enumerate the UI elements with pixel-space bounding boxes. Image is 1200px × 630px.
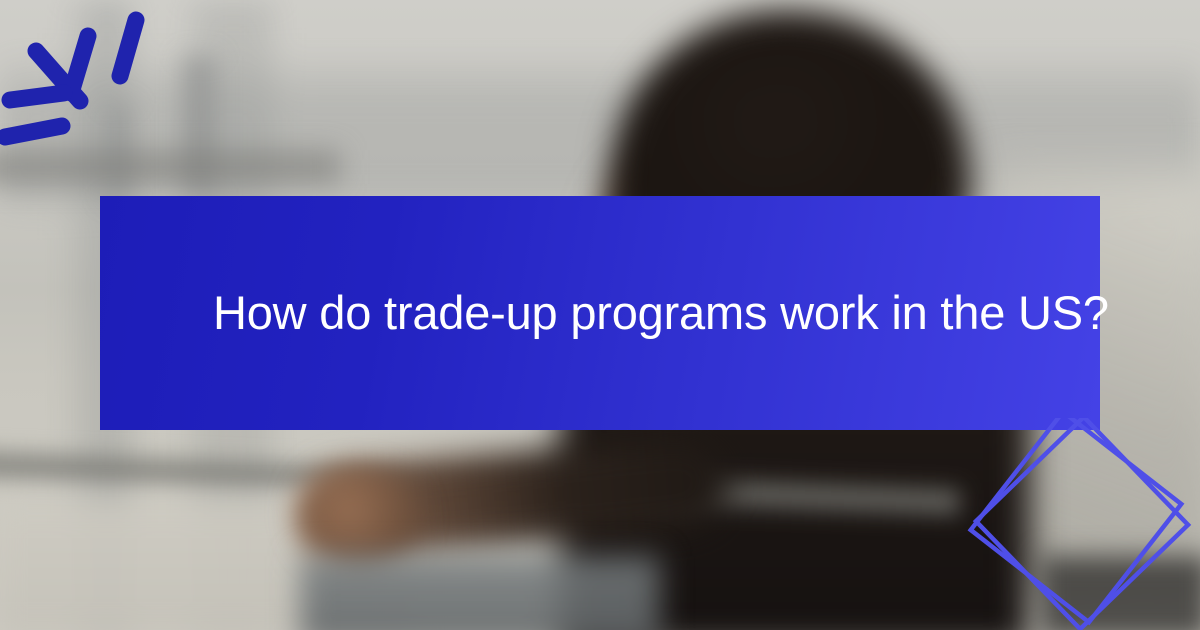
background-desk (300, 556, 660, 630)
banner-canvas: How do trade-up programs work in the US? (0, 0, 1200, 630)
subject-hand (300, 470, 418, 566)
background-ledge (0, 150, 340, 184)
background-monitor (1040, 556, 1200, 630)
page-title: How do trade-up programs work in the US? (100, 286, 1109, 340)
headline-banner: How do trade-up programs work in the US? (100, 196, 1100, 430)
